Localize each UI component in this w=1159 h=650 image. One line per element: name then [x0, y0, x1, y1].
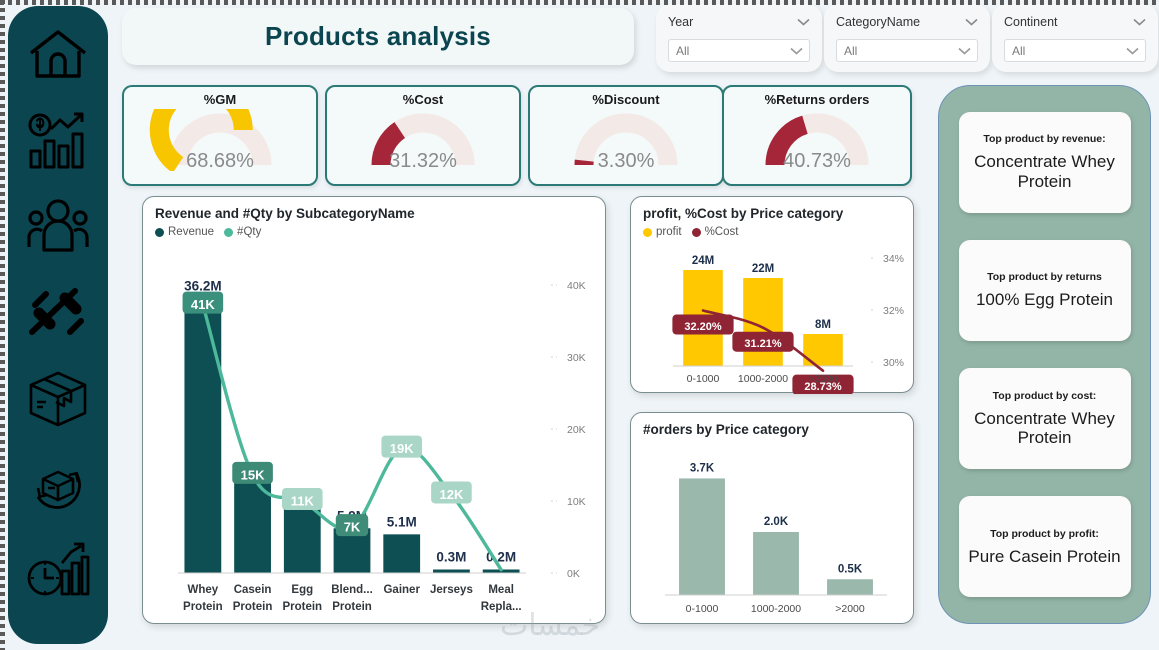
x-axis-category-label: Protein [332, 601, 372, 613]
y-axis-tick-pct: 34% [883, 253, 904, 265]
x-axis-category-label: Protein [183, 601, 223, 613]
top-product-returns-caption: Top product by returns [987, 271, 1102, 283]
bar[interactable] [753, 532, 799, 595]
kpi-card-discount[interactable]: %Discount 3.30% [528, 85, 724, 186]
top-product-returns-card[interactable]: Top product by returns 100% Egg Protein [959, 240, 1131, 341]
home-icon[interactable] [20, 20, 96, 90]
dashboard-page: Products analysis Year All CategoryName … [0, 0, 1159, 650]
chart-profit-plot: 30%32%34%24M22M8M32.20%31.21%28.73%0-100… [631, 244, 915, 394]
data-label: 32.20% [684, 321, 722, 333]
chevron-down-icon[interactable] [965, 18, 978, 26]
x-axis-category-label: 0-1000 [687, 373, 720, 385]
package-box-icon[interactable] [20, 364, 96, 434]
slicer-categoryname-header: CategoryName [836, 12, 978, 32]
y-axis-tick-qty: 30K [567, 352, 586, 364]
bar-value-label: 0.3M [436, 550, 466, 565]
legend-label-profit: profit [656, 226, 682, 238]
bar[interactable] [184, 299, 221, 573]
top-product-cost-card[interactable]: Top product by cost: Concentrate Whey Pr… [959, 368, 1131, 469]
page-border-top [0, 0, 1159, 5]
customers-icon[interactable] [20, 192, 96, 262]
chart-profit-title: profit, %Cost by Price category [631, 197, 913, 221]
x-axis-category-label: Gainer [383, 584, 420, 596]
bar-value-label: 8M [815, 319, 831, 331]
x-axis-category-label: 1000-2000 [751, 603, 801, 615]
kpi-returns-gauge: 40.73% [724, 107, 910, 179]
legend-item-qty[interactable]: #Qty [224, 226, 261, 238]
chart-orders-plot: 3.7K2.0K0.5K0-10001000-2000>2000 [631, 445, 915, 625]
returns-icon[interactable] [20, 450, 96, 520]
x-axis-category-label: Casein [234, 584, 272, 596]
kpi-gm-value: 68.68% [186, 150, 254, 173]
x-axis-category-label: Egg [291, 584, 313, 596]
x-axis-category-label: >2000 [808, 373, 838, 385]
y-axis-tick-qty: 0K [567, 568, 580, 580]
kpi-returns-title: %Returns orders [724, 92, 910, 107]
slicer-categoryname-value-box[interactable]: All [836, 39, 978, 62]
bar-value-label: 5.1M [387, 514, 417, 529]
legend-swatch-profit [643, 228, 652, 237]
kpi-card-gm[interactable]: %GM 68.68% [122, 85, 318, 186]
slicer-year-value: All [676, 44, 689, 58]
kpi-discount-gauge: 3.30% [530, 107, 722, 179]
chart-profit-legend: profit %Cost [631, 221, 913, 238]
chart-orders-by-price-category[interactable]: #orders by Price category 3.7K2.0K0.5K0-… [630, 412, 914, 624]
x-axis-category-label: Whey [188, 584, 219, 596]
slicer-categoryname[interactable]: CategoryName All [824, 4, 990, 72]
chart-orders-title: #orders by Price category [631, 413, 913, 437]
bar[interactable] [827, 579, 873, 595]
chart-revenue-qty-by-subcategory[interactable]: Revenue and #Qty by SubcategoryName Reve… [142, 196, 606, 624]
top-product-revenue-card[interactable]: Top product by revenue: Concentrate Whey… [959, 112, 1131, 213]
kpi-gm-title: %GM [124, 92, 316, 107]
y-axis-tick-pct: 32% [883, 305, 904, 317]
chart-main-legend: Revenue #Qty [143, 221, 605, 238]
chart-main-plot: 0K10K20K30K40K36.2M12.3M5.9M5.1M0.3M0.2M… [143, 245, 607, 623]
slicer-categoryname-value: All [844, 44, 857, 58]
top-product-revenue-value: Concentrate Whey Protein [967, 152, 1123, 191]
legend-swatch-revenue [155, 228, 164, 237]
kpi-card-cost[interactable]: %Cost 31.32% [325, 85, 521, 186]
data-label: 19K [390, 441, 414, 456]
bar-value-label: 36.2M [184, 279, 222, 294]
time-analytics-icon[interactable] [20, 536, 96, 606]
legend-label-pct-cost: %Cost [705, 226, 739, 238]
slicer-continent-value: All [1012, 44, 1025, 58]
top-product-profit-caption: Top product by profit: [990, 528, 1099, 540]
bar[interactable] [433, 570, 470, 574]
top-product-profit-card[interactable]: Top product by profit: Pure Casein Prote… [959, 496, 1131, 597]
slicer-year-value-box[interactable]: All [668, 39, 810, 62]
slicer-year-header: Year [668, 12, 810, 32]
dumbbell-icon[interactable] [20, 278, 96, 348]
kpi-cost-gauge: 31.32% [327, 107, 519, 179]
slicer-year-label: Year [668, 15, 693, 29]
x-axis-category-label: Blend... [331, 584, 373, 596]
y-axis-tick-qty: 10K [567, 496, 586, 508]
top-product-cost-caption: Top product by cost: [993, 390, 1097, 402]
bar[interactable] [383, 534, 420, 573]
kpi-gm-gauge: 68.68% [124, 107, 316, 179]
x-axis-category-label: >2000 [835, 603, 865, 615]
kpi-card-returns[interactable]: %Returns orders 40.73% [722, 85, 912, 186]
data-label: 15K [241, 467, 265, 482]
data-label: 12K [439, 487, 463, 502]
x-axis-category-label: Protein [282, 601, 322, 613]
top-product-cost-value: Concentrate Whey Protein [967, 409, 1123, 448]
page-title: Products analysis [122, 8, 634, 65]
slicer-continent[interactable]: Continent All [992, 4, 1158, 72]
slicer-continent-label: Continent [1004, 15, 1058, 29]
legend-item-revenue[interactable]: Revenue [155, 226, 214, 238]
kpi-cost-value: 31.32% [389, 150, 457, 173]
top-product-profit-value: Pure Casein Protein [968, 547, 1120, 567]
y-axis-tick-qty: 40K [567, 280, 586, 292]
x-axis-category-label: Meal [488, 584, 514, 596]
legend-item-profit[interactable]: profit [643, 226, 682, 238]
x-axis-category-label: Repla... [481, 601, 522, 613]
x-axis-category-label: 0-1000 [686, 603, 719, 615]
data-label: 7K [344, 520, 361, 535]
bar-value-label: 2.0K [764, 516, 789, 528]
data-label: 11K [291, 494, 315, 509]
page-title-text: Products analysis [265, 21, 491, 52]
chart-main-title: Revenue and #Qty by SubcategoryName [143, 197, 605, 221]
chevron-down-icon[interactable] [1133, 18, 1146, 26]
top-product-revenue-caption: Top product by revenue: [983, 133, 1105, 145]
chevron-down-icon[interactable] [797, 18, 810, 26]
chevron-down-icon[interactable] [790, 47, 803, 55]
kpi-discount-title: %Discount [530, 92, 722, 107]
x-axis-category-label: Jerseys [430, 584, 473, 596]
legend-label-qty: #Qty [237, 226, 261, 238]
legend-item-pct-cost[interactable]: %Cost [692, 226, 739, 238]
bar-value-label: 3.7K [690, 462, 715, 474]
kpi-returns-value: 40.73% [783, 150, 851, 173]
y-axis-tick-pct: 30% [883, 357, 904, 369]
x-axis-category-label: 1000-2000 [738, 373, 788, 385]
legend-swatch-pct-cost [692, 228, 701, 237]
slicer-year[interactable]: Year All [656, 4, 822, 72]
legend-swatch-qty [224, 228, 233, 237]
chevron-down-icon[interactable] [1126, 47, 1139, 55]
slicer-continent-header: Continent [1004, 12, 1146, 32]
chevron-down-icon[interactable] [958, 47, 971, 55]
bar[interactable] [679, 478, 725, 595]
x-axis-category-label: Protein [233, 601, 273, 613]
revenue-growth-icon[interactable] [20, 106, 96, 176]
page-border-left [0, 0, 5, 650]
sidebar [8, 6, 108, 644]
data-label: 31.21% [744, 338, 782, 350]
bar-value-label: 0.5K [838, 563, 863, 575]
top-product-returns-value: 100% Egg Protein [976, 290, 1113, 310]
legend-label-revenue: Revenue [168, 226, 214, 238]
kpi-cost-title: %Cost [327, 92, 519, 107]
chart-profit-cost-by-price-category[interactable]: profit, %Cost by Price category profit %… [630, 196, 914, 393]
y-axis-tick-qty: 20K [567, 424, 586, 436]
top-products-rail: Top product by revenue: Concentrate Whey… [938, 85, 1151, 624]
data-label: 41K [191, 297, 215, 312]
kpi-discount-value: 3.30% [598, 150, 655, 173]
bar-value-label: 24M [692, 255, 714, 267]
bar-value-label: 22M [752, 263, 774, 275]
slicer-continent-value-box[interactable]: All [1004, 39, 1146, 62]
slicer-categoryname-label: CategoryName [836, 15, 920, 29]
